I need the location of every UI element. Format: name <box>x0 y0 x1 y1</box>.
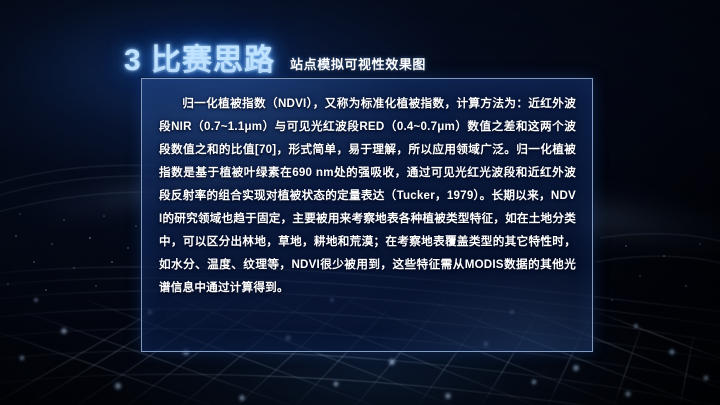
presentation-slide: 3 比赛思路 站点模拟可视性效果图 归一化植被指数（NDVI），又称为标准化植被… <box>0 0 720 405</box>
content-panel-body: 归一化植被指数（NDVI），又称为标准化植被指数，计算方法为：近红外波段NIR（… <box>142 79 592 300</box>
content-panel: 归一化植被指数（NDVI），又称为标准化植被指数，计算方法为：近红外波段NIR（… <box>141 78 593 352</box>
body-paragraph: 归一化植被指数（NDVI），又称为标准化植被指数，计算方法为：近红外波段NIR（… <box>159 93 576 300</box>
slide-header: 3 比赛思路 站点模拟可视性效果图 <box>0 28 720 76</box>
page-title: 3 比赛思路 <box>124 46 275 76</box>
page-subtitle: 站点模拟可视性效果图 <box>290 54 426 73</box>
